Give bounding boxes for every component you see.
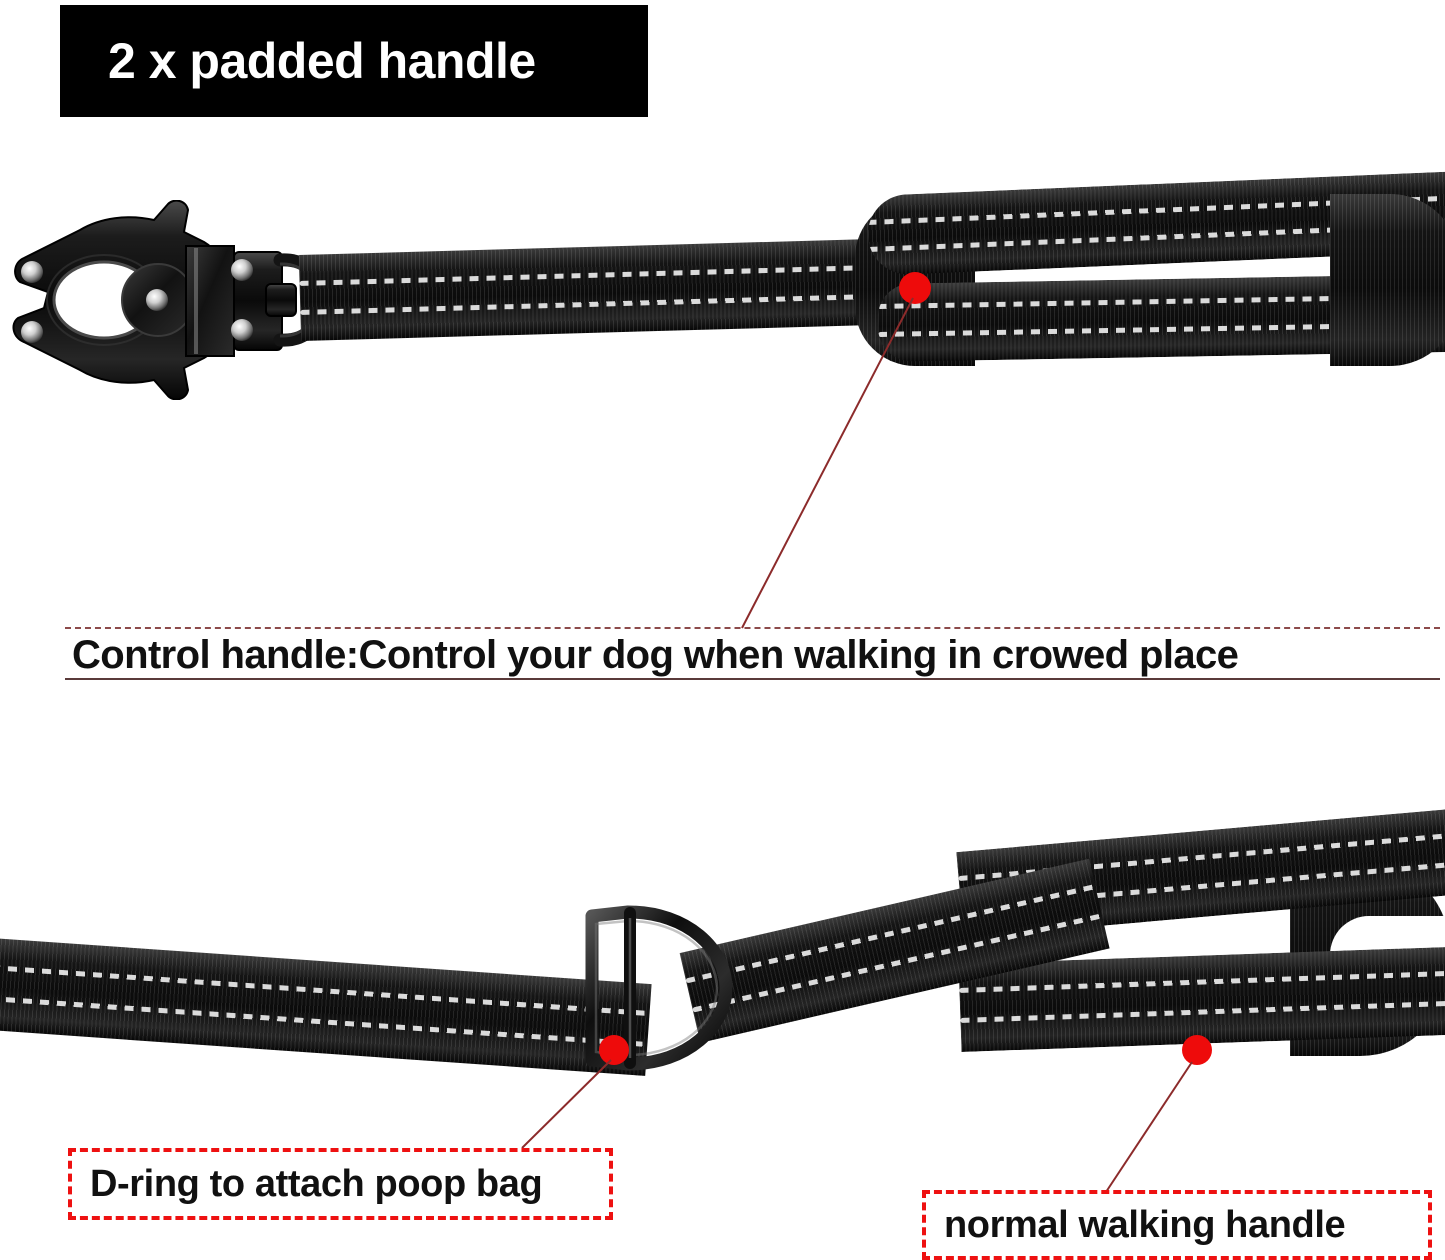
frog-clasp-svg [8, 200, 328, 400]
clasp-rivet [231, 319, 253, 341]
control-handle-right-bend [1330, 194, 1445, 366]
product-infographic-canvas: 2 x padded handle [0, 0, 1445, 1260]
caption-control-handle: Control handle:Control your dog when wal… [72, 632, 1445, 678]
bottom-product-illustration [0, 860, 1445, 1120]
banner-title-text: 2 x padded handle [60, 36, 536, 86]
top-product-illustration [0, 180, 1445, 430]
webbing-strap-segment [299, 238, 921, 341]
title-banner: 2 x padded handle [60, 5, 648, 117]
webbing-texture [299, 238, 921, 341]
caption-d-ring-text: D-ring to attach poop bag [72, 1165, 542, 1203]
frog-clasp-icon [8, 200, 328, 400]
d-ring-svg [566, 902, 746, 1074]
callout-dot-icon-control-handle[interactable] [899, 272, 931, 304]
callout-dot-icon-d-ring[interactable] [599, 1035, 629, 1065]
clasp-rivet [21, 321, 43, 343]
clasp-rivet [146, 289, 168, 311]
caption-box-normal-handle: normal walking handle [922, 1190, 1432, 1260]
clasp-rivet [231, 259, 253, 281]
swivel-barrel [266, 284, 296, 316]
caption-rule-solid [65, 678, 1440, 680]
caption-normal-handle-text: normal walking handle [926, 1206, 1345, 1244]
callout-dot-icon-normal-handle[interactable] [1182, 1035, 1212, 1065]
clasp-plate [186, 246, 234, 356]
clasp-rivet [21, 261, 43, 283]
webbing-texture [1330, 194, 1445, 366]
caption-box-d-ring: D-ring to attach poop bag [68, 1148, 613, 1220]
caption-rule-dashed [65, 627, 1440, 629]
webbing-strap-segment [0, 938, 652, 1076]
d-ring-icon [566, 902, 746, 1074]
